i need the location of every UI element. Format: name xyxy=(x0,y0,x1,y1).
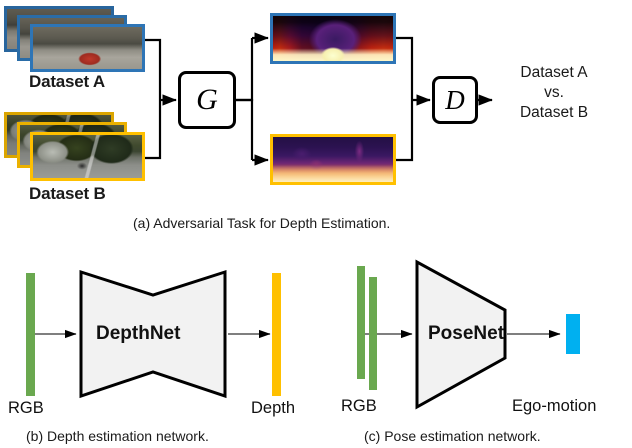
dataset-a-thumbnail-front xyxy=(30,24,145,72)
discriminator-input-arrows xyxy=(396,38,430,160)
posenet-rgb-bar-back xyxy=(357,266,365,379)
depth-map-dataset-b[interactable] xyxy=(270,134,396,185)
generator-output-arrows xyxy=(236,38,268,160)
dataset-a-label: Dataset A xyxy=(29,72,105,91)
depthnet-depth-bar xyxy=(272,273,281,396)
discriminator-label: D xyxy=(445,85,465,116)
discriminator-output-line-1: Dataset A xyxy=(489,63,619,83)
generator-label: G xyxy=(196,83,218,117)
dataset-a-image-stack[interactable] xyxy=(4,6,144,72)
discriminator-output-text: Dataset A vs. Dataset B xyxy=(489,63,619,123)
caption-b: (b) Depth estimation network. xyxy=(26,428,209,444)
discriminator-box[interactable]: D xyxy=(432,76,478,124)
posenet-input-label: RGB xyxy=(341,397,377,416)
depthnet-label: DepthNet xyxy=(96,323,180,345)
generator-box[interactable]: G xyxy=(178,71,236,129)
depthnet-rgb-bar xyxy=(26,273,35,396)
dataset-b-image-stack[interactable] xyxy=(4,112,144,184)
posenet-label: PoseNet xyxy=(428,323,504,345)
discriminator-output-line-3: Dataset B xyxy=(489,103,619,123)
posenet-rgb-bar-front xyxy=(369,277,377,390)
discriminator-output-line-2: vs. xyxy=(489,83,619,103)
depthnet-input-label: RGB xyxy=(8,399,44,418)
caption-a: (a) Adversarial Task for Depth Estimatio… xyxy=(133,215,390,231)
figure-root: Dataset A Dataset B G D Dataset A vs. Da… xyxy=(0,0,632,448)
posenet-egomotion-bar xyxy=(566,314,580,354)
posenet-output-label: Ego-motion xyxy=(512,397,596,416)
dataset-b-thumbnail-front xyxy=(30,132,145,181)
depth-map-dataset-a[interactable] xyxy=(270,13,396,64)
depthnet-output-label: Depth xyxy=(251,399,295,418)
caption-c: (c) Pose estimation network. xyxy=(364,428,541,444)
generator-input-arrows xyxy=(140,40,176,158)
dataset-b-label: Dataset B xyxy=(29,184,106,203)
